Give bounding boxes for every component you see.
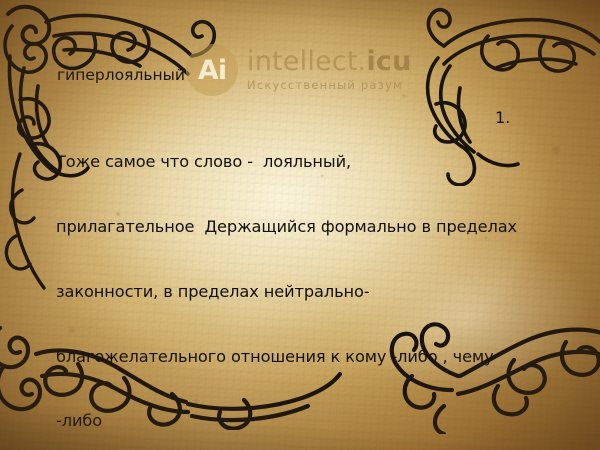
sense-number-marker: 1. xyxy=(495,108,510,127)
definition-line: -либо xyxy=(56,410,600,432)
definition-body: Тоже самое что слово - лояльный, прилага… xyxy=(56,108,600,450)
definition-line: благожелательного отношения к кому -либо… xyxy=(56,346,600,368)
definition-line: прилагательное Держащийся формально в пр… xyxy=(56,216,600,238)
definition-line: законности, в пределах нейтрально- xyxy=(56,281,600,303)
entry-term-heading: гиперлояльный xyxy=(57,66,185,84)
definition-line: Тоже самое что слово - лояльный, xyxy=(56,151,600,173)
slide-canvas: Ai intellect.icu Искусственный разум гип… xyxy=(0,0,600,450)
